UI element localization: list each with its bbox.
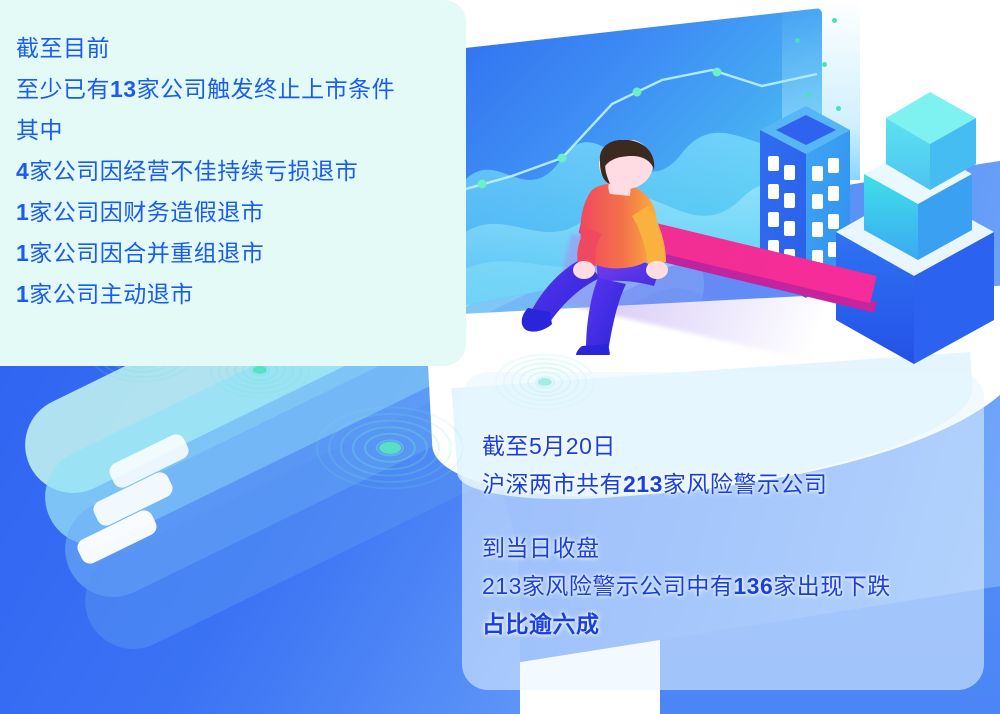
br-line-1: 截至5月20日 [482,427,982,465]
tl-line-1: 截至目前 [16,28,456,69]
br-line-2: 沪深两市共有213家风险警示公司 [482,465,982,503]
ripple-5 [318,408,462,487]
br-line-3: 到当日收盘 [482,529,982,567]
spark-3 [822,62,827,67]
paragraph-gap [482,503,982,529]
br-line-4: 213家风险警示公司中有136家出现下跌 [482,567,982,605]
tl-line-6: 1家公司因合并重组退市 [16,233,456,274]
spark-1 [832,18,837,23]
bottom-right-text-block: 截至5月20日 沪深两市共有213家风险警示公司 到当日收盘 213家风险警示公… [482,427,982,643]
spark-2 [795,38,800,43]
br-line-5: 占比逾六成 [482,605,982,643]
tl-line-7: 1家公司主动退市 [16,274,456,315]
seated-person [520,140,730,355]
infographic-canvas: 截至目前 至少已有13家公司触发终止上市条件 其中 4家公司因经营不佳持续亏损退… [0,0,1000,714]
tl-line-4: 4家公司因经营不佳持续亏损退市 [16,151,456,192]
tl-line-5: 1家公司因财务造假退市 [16,192,456,233]
top-left-text-block: 截至目前 至少已有13家公司触发终止上市条件 其中 4家公司因经营不佳持续亏损退… [16,28,456,315]
tl-line-2: 至少已有13家公司触发终止上市条件 [16,69,456,110]
tl-line-3: 其中 [16,110,456,151]
